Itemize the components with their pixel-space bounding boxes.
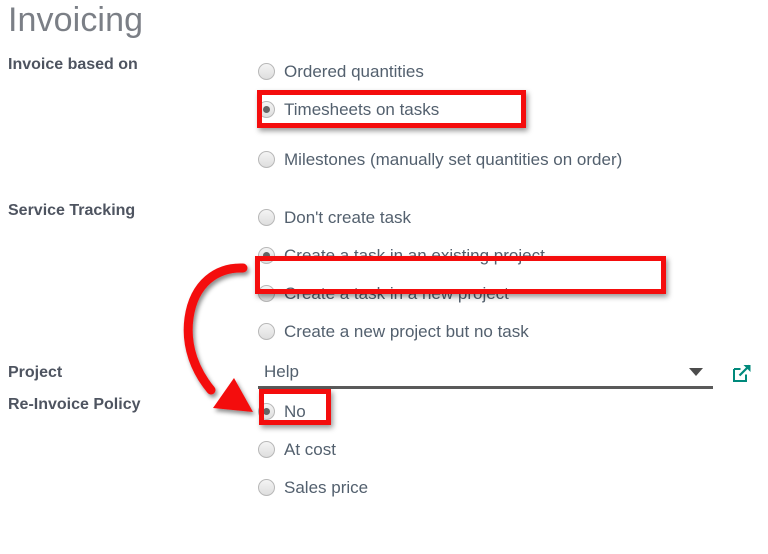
radio-icon-at-cost[interactable]	[258, 441, 275, 458]
project-select[interactable]: Help	[258, 357, 713, 389]
radio-icon-create-task-existing-project[interactable]	[258, 247, 275, 264]
field-project: Project Help	[0, 354, 768, 392]
field-label-re-invoice-policy: Re-Invoice Policy	[0, 392, 258, 418]
radio-icon-timesheets-on-tasks[interactable]	[258, 101, 275, 118]
radio-label-dont-create-task: Don't create task	[284, 205, 411, 230]
radio-option-dont-create-task[interactable]: Don't create task	[258, 198, 768, 236]
radio-label-create-task-new-project: Create a task in a new project	[284, 281, 509, 306]
radio-option-sales-price[interactable]: Sales price	[258, 468, 768, 506]
invoicing-form: Invoice based on Ordered quantities Time…	[0, 52, 768, 506]
radio-label-create-new-project-no-task: Create a new project but no task	[284, 319, 529, 344]
radio-option-milestones[interactable]: Milestones (manually set quantities on o…	[258, 128, 768, 190]
radio-label-at-cost: At cost	[284, 437, 336, 462]
radio-option-no[interactable]: No	[258, 392, 768, 430]
radio-icon-create-task-new-project[interactable]	[258, 285, 275, 302]
radio-label-timesheets-on-tasks: Timesheets on tasks	[284, 97, 439, 122]
field-service-tracking: Service Tracking Don't create task Creat…	[0, 198, 768, 350]
field-invoice-based-on: Invoice based on Ordered quantities Time…	[0, 52, 768, 190]
field-re-invoice-policy: Re-Invoice Policy No At cost Sales price	[0, 392, 768, 506]
chevron-down-icon[interactable]	[689, 368, 703, 376]
radio-icon-no[interactable]	[258, 403, 275, 420]
radio-option-timesheets-on-tasks[interactable]: Timesheets on tasks	[258, 90, 768, 128]
field-label-project: Project	[0, 354, 258, 392]
project-select-row: Help	[258, 354, 768, 392]
radio-label-sales-price: Sales price	[284, 475, 368, 500]
radio-icon-milestones[interactable]	[258, 151, 275, 168]
radio-label-milestones: Milestones (manually set quantities on o…	[284, 147, 622, 172]
radio-option-create-task-new-project[interactable]: Create a task in a new project	[258, 274, 768, 312]
external-link-icon[interactable]	[731, 362, 753, 384]
radio-icon-ordered-quantities[interactable]	[258, 63, 275, 80]
radio-group-service-tracking: Don't create task Create a task in an ex…	[258, 198, 768, 350]
radio-label-ordered-quantities: Ordered quantities	[284, 59, 424, 84]
radio-label-create-task-existing-project: Create a task in an existing project	[284, 243, 545, 268]
field-label-invoice-based-on: Invoice based on	[0, 52, 258, 78]
radio-option-at-cost[interactable]: At cost	[258, 430, 768, 468]
project-control: Help	[258, 354, 768, 392]
project-select-value: Help	[258, 359, 299, 385]
radio-option-create-new-project-no-task[interactable]: Create a new project but no task	[258, 312, 768, 350]
radio-option-create-task-existing-project[interactable]: Create a task in an existing project	[258, 236, 768, 274]
radio-group-re-invoice-policy: No At cost Sales price	[258, 392, 768, 506]
radio-label-no: No	[284, 399, 306, 424]
radio-option-ordered-quantities[interactable]: Ordered quantities	[258, 52, 768, 90]
radio-group-invoice-based-on: Ordered quantities Timesheets on tasks M…	[258, 52, 768, 190]
page-title: Invoicing	[8, 0, 143, 42]
radio-icon-dont-create-task[interactable]	[258, 209, 275, 226]
radio-icon-create-new-project-no-task[interactable]	[258, 323, 275, 340]
invoicing-settings-page: Invoicing Invoice based on Ordered quant…	[0, 0, 768, 554]
radio-icon-sales-price[interactable]	[258, 479, 275, 496]
field-label-service-tracking: Service Tracking	[0, 198, 258, 224]
